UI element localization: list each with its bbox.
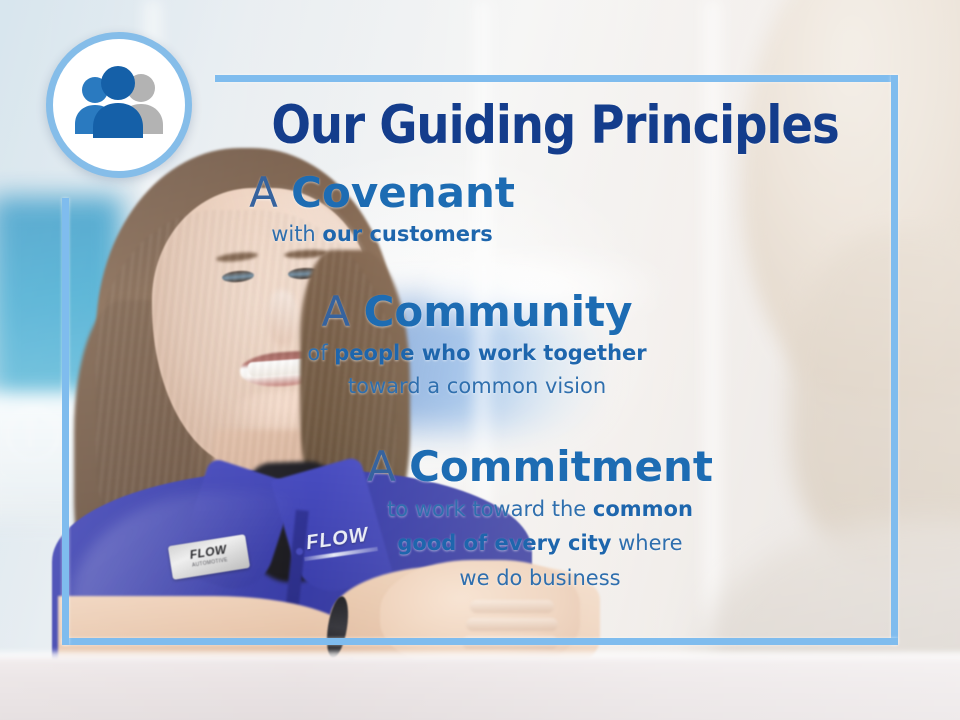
principle-subline: with our customers — [62, 221, 702, 249]
subline-text: we do business — [459, 566, 620, 590]
principle-community: A Community of people who work together … — [122, 290, 832, 401]
subline-text-bold: people who work together — [334, 341, 646, 365]
principle-heading: A Covenant — [62, 171, 702, 215]
guiding-principles-poster: FLOW AUTOMOTIVE FLOW — [0, 0, 960, 720]
page-title: Our Guiding Principles — [253, 95, 857, 156]
subline-text: to work toward the — [387, 497, 593, 521]
principle-heading: A Community — [122, 290, 832, 334]
subline-text: where — [611, 531, 682, 555]
principle-subline: to work toward the common — [182, 496, 898, 524]
principle-heading: A Commitment — [182, 445, 898, 489]
principle-article: A — [249, 168, 278, 217]
principle-word: Commitment — [409, 442, 713, 491]
text-content: Our Guiding Principles A Covenant with o… — [62, 75, 898, 645]
subline-text: of — [307, 341, 334, 365]
principle-word: Covenant — [291, 168, 515, 217]
subline-text-bold: our customers — [322, 222, 492, 246]
principle-subline: toward a common vision — [122, 373, 832, 401]
white-table-surface — [0, 655, 960, 720]
subline-text-bold: good of every city — [397, 531, 611, 555]
principle-commitment: A Commitment to work toward the common g… — [182, 445, 898, 593]
principle-subline: good of every city where — [182, 530, 898, 558]
principle-article: A — [322, 287, 351, 336]
subline-text: toward a common vision — [348, 374, 606, 398]
subline-text-bold: common — [593, 497, 693, 521]
subline-text: with — [271, 222, 322, 246]
principle-covenant: A Covenant with our customers — [62, 171, 702, 248]
principle-article: A — [367, 442, 396, 491]
principle-word: Community — [364, 287, 633, 336]
table-edge-highlight — [0, 652, 960, 662]
principle-subline: we do business — [182, 565, 898, 593]
principle-subline: of people who work together — [122, 340, 832, 368]
